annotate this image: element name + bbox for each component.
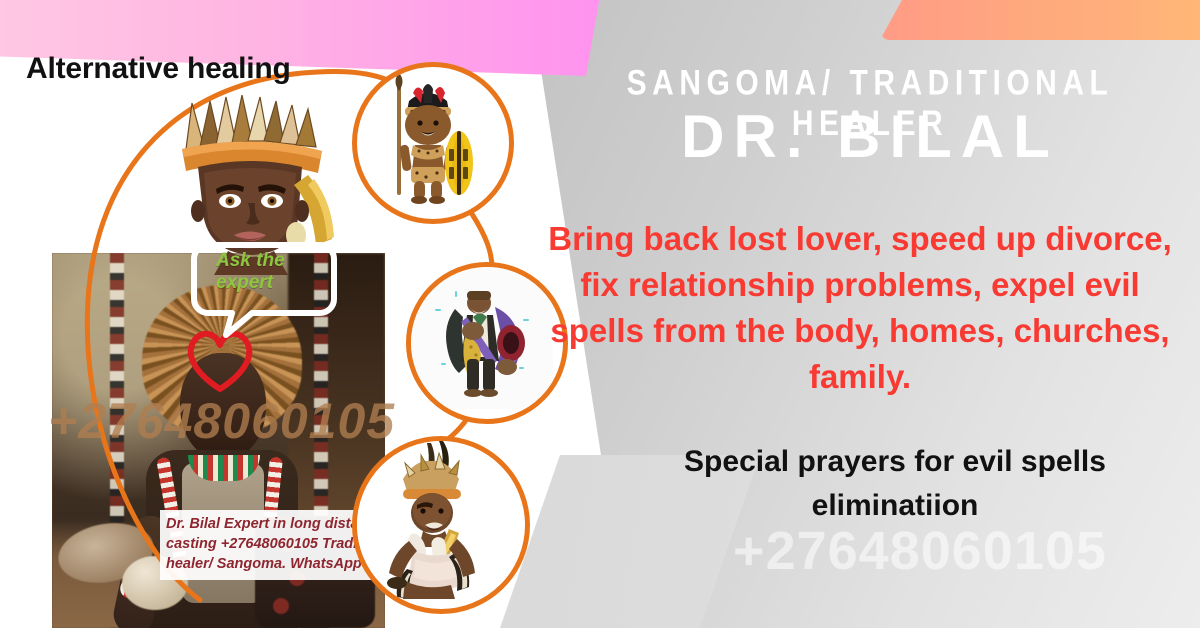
kneeling-dancer-illustration <box>357 441 515 599</box>
circle-kneeling-dancer <box>352 436 530 614</box>
page-title: Alternative healing <box>26 52 291 86</box>
circle-zulu-warrior-boy <box>352 62 514 224</box>
healer-name: DR. BILAL <box>560 103 1180 171</box>
caption-line-3: healer/ Sangoma. WhatsApp n <box>166 554 386 574</box>
services-text: Bring back lost lover, speed up divorce,… <box>534 216 1186 400</box>
special-offer-text: Special prayers for evil spells eliminat… <box>600 440 1190 528</box>
speech-bubble-text: Ask the expert <box>216 250 326 294</box>
poster-canvas: Ask the expert +27648060105 Dr. Bilal Ex… <box>0 0 1200 628</box>
cloaked-healer-illustration <box>411 267 553 409</box>
phone-watermark: +27648060105 <box>640 520 1200 582</box>
orange-top-right-bar <box>880 0 1200 40</box>
zulu-warrior-boy-illustration <box>357 67 499 209</box>
